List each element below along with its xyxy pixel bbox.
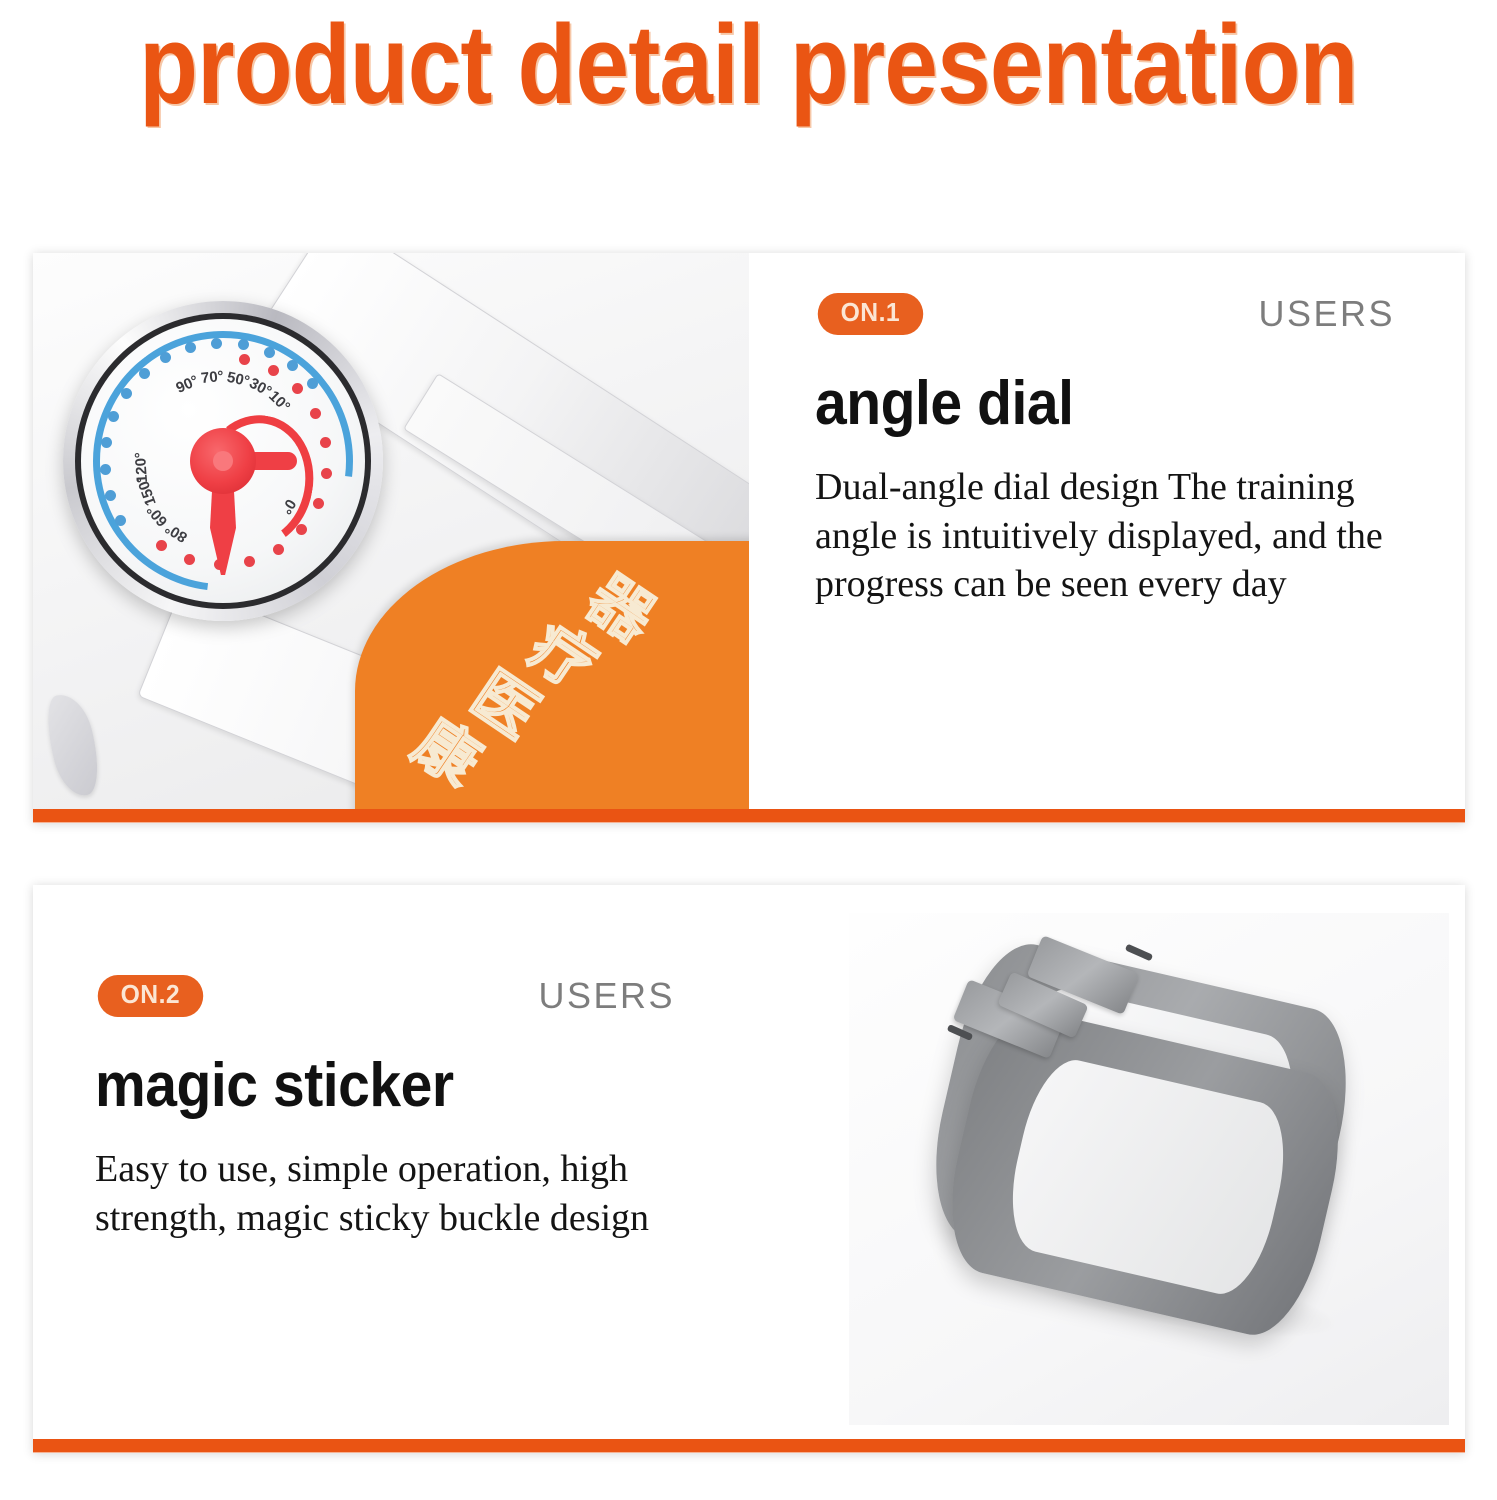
dial-tick-blue [121,388,132,399]
card-2-orange-rule [33,1439,1465,1453]
dial-face: 0°30°50°70°90°120°150°10°60°80° [81,319,365,603]
feature-body-1: Dual-angle dial design The training angl… [815,463,1435,609]
dial-tick-red [268,365,279,376]
users-label-2: USERS [538,975,675,1017]
orange-label-panel: 器 疗 医 康 [355,541,749,809]
dial-tick-blue [139,368,150,379]
feature-heading-2: magic sticker [95,1055,665,1117]
dial-tick-red [156,540,167,551]
dial-tick-blue [185,342,196,353]
dial-tick-blue [105,490,116,501]
angle-gauge: 0°30°50°70°90°120°150°10°60°80° [63,301,383,621]
dial-tick-blue [287,360,298,371]
dial-tick-blue [100,464,111,475]
page-title: product detail presentation [139,9,1357,121]
users-label-1: USERS [1258,293,1395,335]
card-1-orange-rule [33,809,1465,823]
dial-tick-red [321,468,332,479]
feature-heading-1: angle dial [815,373,1385,435]
badge-row-2: ON.2 USERS [95,975,675,1017]
dial-degree-label: 70° [200,368,224,387]
dial-tick-blue [307,378,318,389]
brace-fin-icon [39,689,107,801]
step-badge-1: ON.1 [818,293,923,334]
strap-pin-icon [1125,944,1153,962]
dial-tick-blue [101,437,112,448]
feature-body-2: Easy to use, simple operation, high stre… [95,1145,715,1242]
dial-tick-blue [264,347,275,358]
feature-card-1: 器 疗 医 康 0°30°50°70°90°120°150°10°60°80° … [33,253,1465,823]
badge-row-1: ON.1 USERS [815,293,1395,335]
dial-tick-red [184,554,195,565]
feature-card-2: ON.2 USERS magic sticker Easy to use, si… [33,885,1465,1453]
feature-text-2: ON.2 USERS magic sticker Easy to use, si… [95,975,715,1242]
dial-tick-blue [211,338,222,349]
step-badge-2: ON.2 [98,975,203,1016]
magic-sticker-strap-photo [849,913,1449,1425]
dial-tick-blue [115,515,126,526]
feature-text-1: ON.1 USERS angle dial Dual-angle dial de… [815,293,1435,609]
dial-tick-red [273,544,284,555]
dial-needle-hub [190,428,256,494]
dial-tick-red [296,524,307,535]
dial-tick-red [313,498,324,509]
page-title-bar: product detail presentation [0,0,1497,130]
angle-dial-photo: 器 疗 医 康 0°30°50°70°90°120°150°10°60°80° [33,253,749,809]
dial-tick-red [239,354,250,365]
